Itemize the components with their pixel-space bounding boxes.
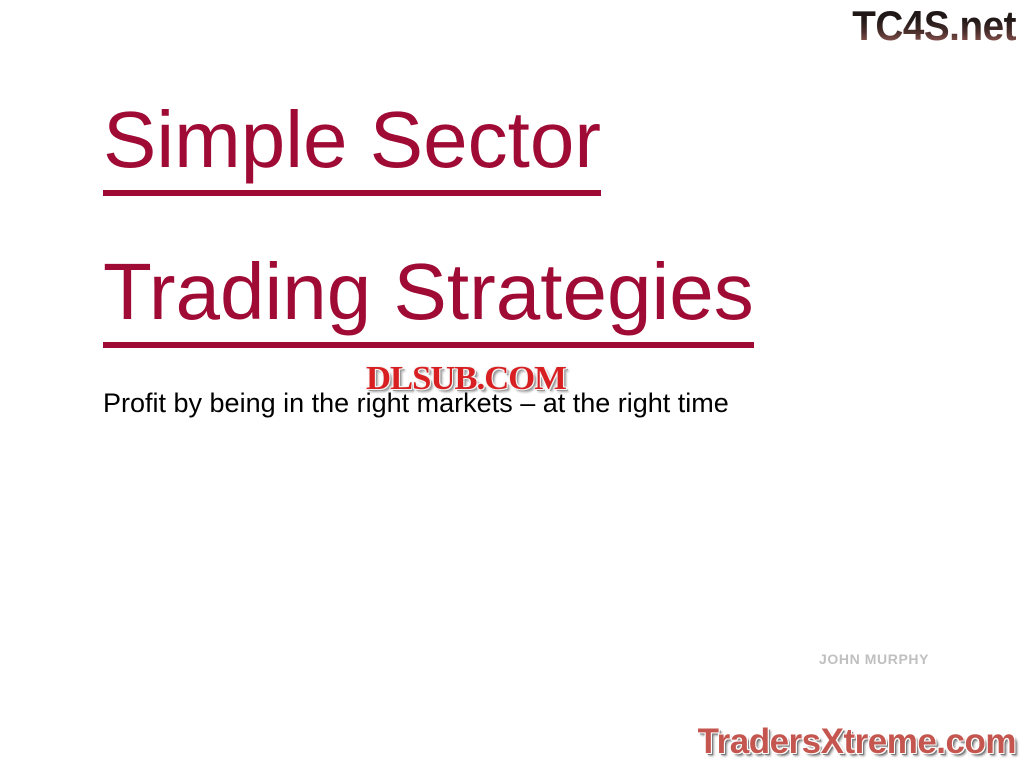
title-line-two: Trading Strategies	[103, 252, 933, 348]
tc4s-watermark: TC4S.net	[852, 2, 1016, 50]
title-block: Simple Sector Trading Strategies	[103, 100, 933, 348]
presentation-title-slide: TC4S.net Simple Sector Trading Strategie…	[0, 0, 1024, 768]
dlsub-watermark: DLSUB.COM	[366, 360, 566, 398]
title-line-one-text: Simple Sector	[103, 100, 601, 196]
title-line-two-text: Trading Strategies	[103, 252, 754, 348]
tradersxtreme-watermark: TradersXtreme.com	[698, 722, 1016, 762]
title-line-one: Simple Sector	[103, 100, 933, 196]
author-name: JOHN MURPHY	[819, 651, 929, 667]
